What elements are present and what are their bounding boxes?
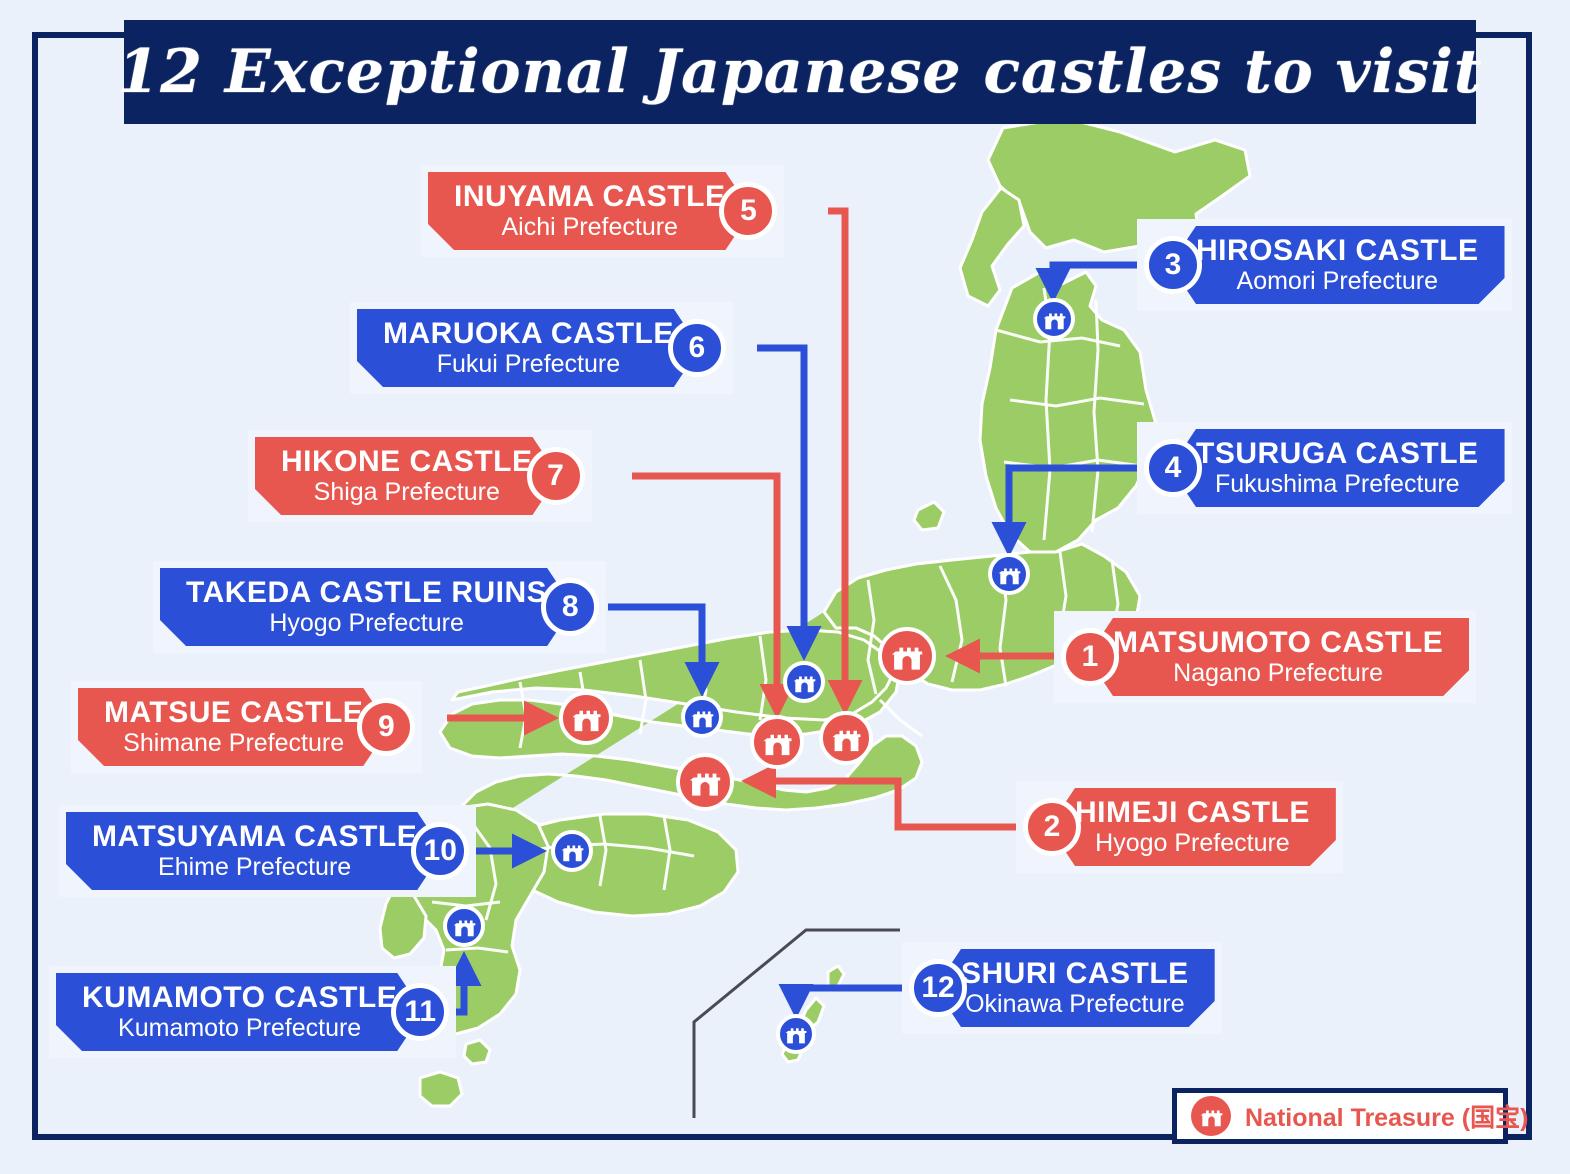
callout-badge-7[interactable]: 7 bbox=[527, 447, 585, 505]
callout-badge-9[interactable]: 9 bbox=[357, 698, 415, 756]
callout-name: MARUOKA CASTLE bbox=[383, 318, 674, 350]
callout-plate: HIKONE CASTLE Shiga Prefecture bbox=[255, 437, 559, 515]
callout-plate: KUMAMOTO CASTLE Kumamoto Prefecture bbox=[56, 973, 423, 1051]
callout-name: HIMEJI CASTLE bbox=[1075, 797, 1310, 829]
callout-tsuruga[interactable]: 4 TSURUGA CASTLE Fukushima Prefecture bbox=[1144, 429, 1505, 507]
callout-badge-12[interactable]: 12 bbox=[909, 959, 967, 1017]
callout-prefecture: Hyogo Prefecture bbox=[1095, 829, 1290, 858]
legend: National Treasure (国宝) bbox=[1172, 1088, 1508, 1144]
callout-prefecture: Nagano Prefecture bbox=[1173, 659, 1383, 688]
page-title: 12 Exceptional Japanese castles to visit bbox=[117, 37, 1482, 107]
callout-name: INUYAMA CASTLE bbox=[454, 181, 725, 213]
marker-matsumoto[interactable] bbox=[878, 627, 936, 685]
callout-name: HIROSAKI CASTLE bbox=[1196, 235, 1479, 267]
callout-plate: HIMEJI CASTLE Hyogo Prefecture bbox=[1049, 788, 1336, 866]
callout-plate: MARUOKA CASTLE Fukui Prefecture bbox=[357, 309, 700, 387]
castle-icon bbox=[1191, 1096, 1231, 1136]
marker-shuri[interactable] bbox=[776, 1014, 816, 1054]
callout-name: TSURUGA CASTLE bbox=[1196, 438, 1479, 470]
marker-kumamoto[interactable] bbox=[443, 905, 485, 947]
callout-takeda[interactable]: TAKEDA CASTLE RUINS Hyogo Prefecture 8 bbox=[160, 568, 599, 646]
marker-matsue[interactable] bbox=[559, 691, 613, 745]
callout-name: TAKEDA CASTLE RUINS bbox=[186, 577, 547, 609]
marker-takeda[interactable] bbox=[681, 696, 723, 738]
callout-name: MATSUE CASTLE bbox=[104, 697, 363, 729]
callout-plate: INUYAMA CASTLE Aichi Prefecture bbox=[428, 172, 751, 250]
callout-badge-1[interactable]: 1 bbox=[1061, 628, 1119, 686]
marker-hikone[interactable] bbox=[750, 715, 804, 769]
callout-maruoka[interactable]: MARUOKA CASTLE Fukui Prefecture 6 bbox=[357, 309, 726, 387]
title-banner: 12 Exceptional Japanese castles to visit bbox=[124, 20, 1476, 124]
callout-plate: HIROSAKI CASTLE Aomori Prefecture bbox=[1170, 226, 1505, 304]
callout-badge-2[interactable]: 2 bbox=[1023, 798, 1081, 856]
callout-hirosaki[interactable]: 3 HIROSAKI CASTLE Aomori Prefecture bbox=[1144, 226, 1505, 304]
callout-name: SHURI CASTLE bbox=[961, 958, 1189, 990]
callout-prefecture: Aomori Prefecture bbox=[1237, 267, 1438, 296]
callout-plate: TSURUGA CASTLE Fukushima Prefecture bbox=[1170, 429, 1505, 507]
callout-plate: MATSUYAMA CASTLE Ehime Prefecture bbox=[66, 812, 443, 890]
marker-himeji[interactable] bbox=[676, 753, 734, 811]
marker-maruoka[interactable] bbox=[783, 661, 825, 703]
callout-matsumoto[interactable]: 1 MATSUMOTO CASTLE Nagano Prefecture bbox=[1061, 618, 1469, 696]
callout-inuyama[interactable]: INUYAMA CASTLE Aichi Prefecture 5 bbox=[428, 172, 777, 250]
callout-badge-4[interactable]: 4 bbox=[1144, 439, 1202, 497]
callout-name: HIKONE CASTLE bbox=[281, 446, 533, 478]
callout-plate: MATSUE CASTLE Shimane Prefecture bbox=[78, 688, 389, 766]
callout-kumamoto[interactable]: KUMAMOTO CASTLE Kumamoto Prefecture 11 bbox=[56, 973, 449, 1051]
callout-shuri[interactable]: 12 SHURI CASTLE Okinawa Prefecture bbox=[909, 949, 1215, 1027]
marker-hirosaki[interactable] bbox=[1033, 298, 1075, 340]
callout-himeji[interactable]: 2 HIMEJI CASTLE Hyogo Prefecture bbox=[1023, 788, 1336, 866]
callout-plate: MATSUMOTO CASTLE Nagano Prefecture bbox=[1087, 618, 1469, 696]
callout-badge-3[interactable]: 3 bbox=[1144, 236, 1202, 294]
callout-prefecture: Ehime Prefecture bbox=[158, 853, 351, 882]
callout-name: MATSUYAMA CASTLE bbox=[92, 821, 417, 853]
callout-badge-8[interactable]: 8 bbox=[541, 578, 599, 636]
callout-prefecture: Fukushima Prefecture bbox=[1215, 470, 1460, 499]
callout-badge-11[interactable]: 11 bbox=[391, 983, 449, 1041]
callout-hikone[interactable]: HIKONE CASTLE Shiga Prefecture 7 bbox=[255, 437, 585, 515]
callout-prefecture: Shimane Prefecture bbox=[123, 729, 344, 758]
callout-badge-10[interactable]: 10 bbox=[411, 822, 469, 880]
callout-badge-5[interactable]: 5 bbox=[719, 182, 777, 240]
callout-plate: SHURI CASTLE Okinawa Prefecture bbox=[935, 949, 1215, 1027]
callout-name: KUMAMOTO CASTLE bbox=[82, 982, 397, 1014]
callout-matsue[interactable]: MATSUE CASTLE Shimane Prefecture 9 bbox=[78, 688, 415, 766]
callout-prefecture: Shiga Prefecture bbox=[314, 478, 500, 507]
callout-prefecture: Okinawa Prefecture bbox=[965, 990, 1185, 1019]
callout-prefecture: Kumamoto Prefecture bbox=[118, 1014, 361, 1043]
marker-tsuruga[interactable] bbox=[988, 553, 1030, 595]
callout-matsuyama[interactable]: MATSUYAMA CASTLE Ehime Prefecture 10 bbox=[66, 812, 469, 890]
callout-prefecture: Fukui Prefecture bbox=[437, 350, 620, 379]
marker-inuyama[interactable] bbox=[819, 711, 873, 765]
callout-badge-6[interactable]: 6 bbox=[668, 319, 726, 377]
callout-plate: TAKEDA CASTLE RUINS Hyogo Prefecture bbox=[160, 568, 573, 646]
callout-prefecture: Hyogo Prefecture bbox=[269, 609, 464, 638]
legend-label: National Treasure (国宝) bbox=[1245, 1098, 1528, 1134]
callout-name: MATSUMOTO CASTLE bbox=[1113, 627, 1443, 659]
marker-matsuyama[interactable] bbox=[551, 830, 593, 872]
callout-prefecture: Aichi Prefecture bbox=[502, 213, 678, 242]
